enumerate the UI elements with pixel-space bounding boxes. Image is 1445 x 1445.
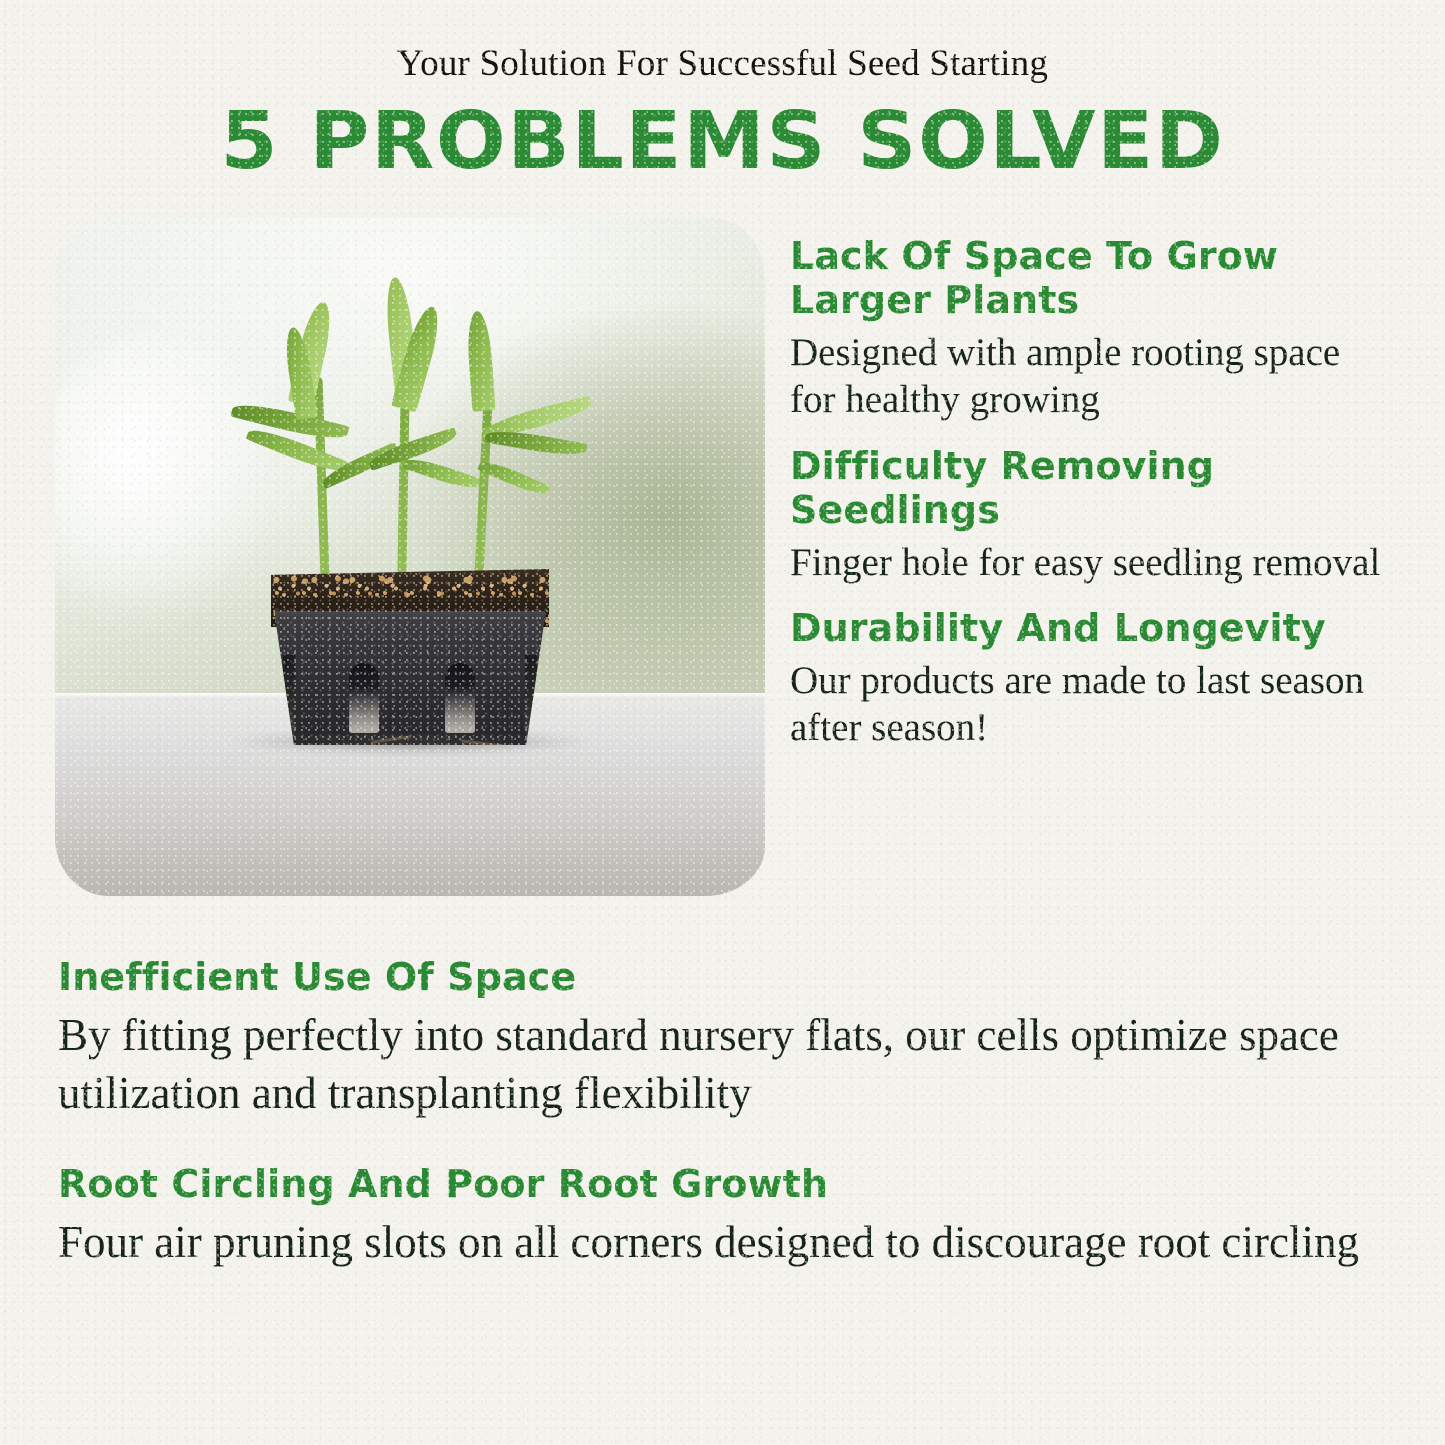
header: Your Solution For Successful Seed Starti… <box>0 0 1445 185</box>
infographic-page: Your Solution For Successful Seed Starti… <box>0 0 1445 1445</box>
problem-item: Inefficient Use Of Space By fitting perf… <box>58 955 1387 1122</box>
problem-description: By fitting perfectly into standard nurse… <box>58 1007 1387 1122</box>
page-title: 5 PROBLEMS SOLVED <box>0 97 1445 185</box>
problem-description: Our products are made to last season aft… <box>790 657 1390 751</box>
tray-drop-shadow <box>232 733 588 755</box>
problem-heading: Durability And Longevity <box>790 606 1390 650</box>
problem-description: Finger hole for easy seedling removal <box>790 539 1390 586</box>
problem-item: Lack Of Space To Grow Larger Plants Desi… <box>790 234 1390 424</box>
air-pruning-slot-edge <box>283 655 295 733</box>
problem-description: Four air pruning slots on all corners de… <box>58 1214 1387 1272</box>
problem-list-right: Lack Of Space To Grow Larger Plants Desi… <box>790 234 1390 751</box>
problem-list-bottom: Inefficient Use Of Space By fitting perf… <box>58 955 1387 1272</box>
problem-heading: Difficulty Removing Seedlings <box>790 444 1390 532</box>
seedling-tray-photo <box>55 218 765 896</box>
air-pruning-slot-edge <box>525 655 537 733</box>
plant-leaf <box>466 310 496 411</box>
air-pruning-slot <box>349 663 379 733</box>
problem-heading: Inefficient Use Of Space <box>58 955 1387 999</box>
problem-heading: Lack Of Space To Grow Larger Plants <box>790 234 1390 322</box>
air-pruning-slot <box>445 663 475 733</box>
problem-heading: Root Circling And Poor Root Growth <box>58 1162 1387 1206</box>
problem-item: Difficulty Removing Seedlings Finger hol… <box>790 444 1390 586</box>
plant-leaf <box>403 454 482 494</box>
problem-description: Designed with ample rooting space for he… <box>790 329 1390 423</box>
middle-section: Lack Of Space To Grow Larger Plants Desi… <box>0 212 1445 912</box>
problem-item: Durability And Longevity Our products ar… <box>790 606 1390 751</box>
plant-stem <box>397 391 409 577</box>
eyebrow-tagline: Your Solution For Successful Seed Starti… <box>0 44 1445 85</box>
nursery-tray-body <box>275 617 545 745</box>
tray-and-plants <box>271 357 549 757</box>
seedling-plants <box>271 307 549 577</box>
problem-item: Root Circling And Poor Root Growth Four … <box>58 1162 1387 1272</box>
